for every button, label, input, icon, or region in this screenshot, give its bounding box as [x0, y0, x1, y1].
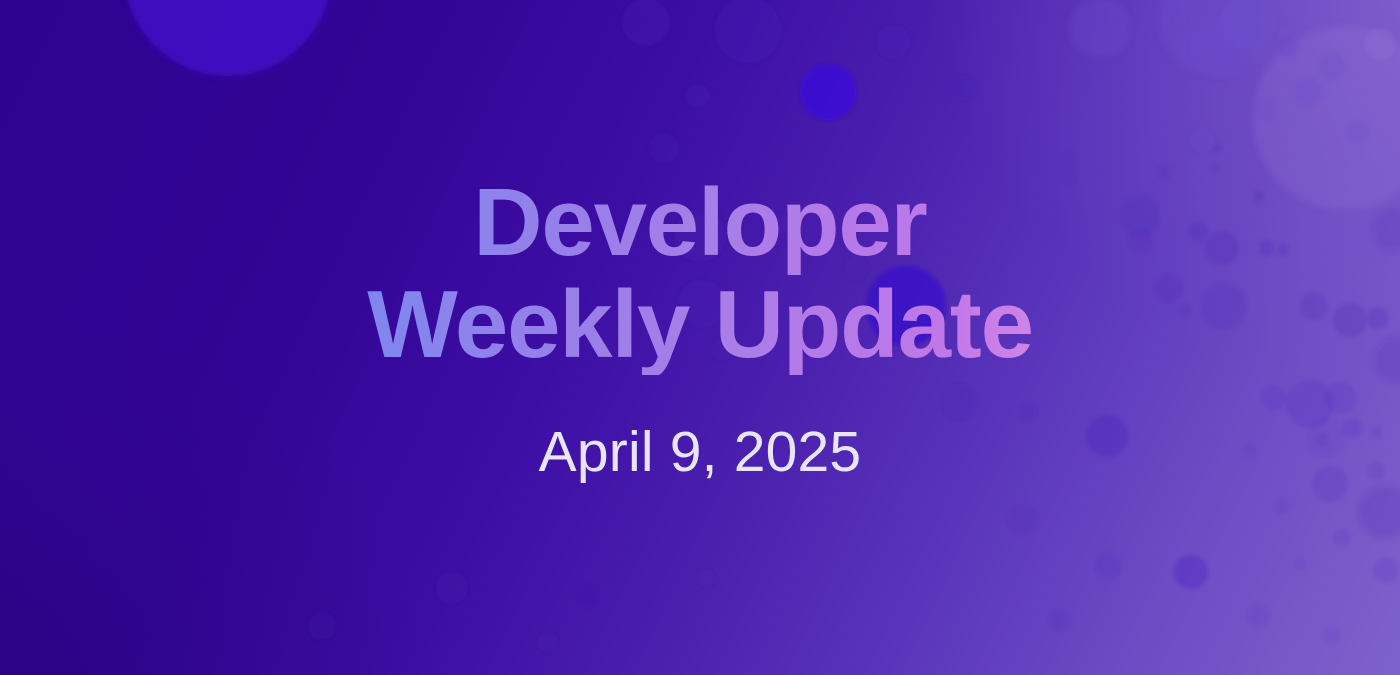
title-slide: Developer Weekly Update April 9, 2025 [0, 0, 1400, 675]
page-title: Developer Weekly Update [367, 172, 1033, 376]
page-title-line-2: Weekly Update [367, 274, 1033, 376]
slide-content: Developer Weekly Update April 9, 2025 [0, 0, 1400, 675]
page-title-line-1: Developer [367, 172, 1033, 274]
slide-date: April 9, 2025 [539, 419, 862, 485]
